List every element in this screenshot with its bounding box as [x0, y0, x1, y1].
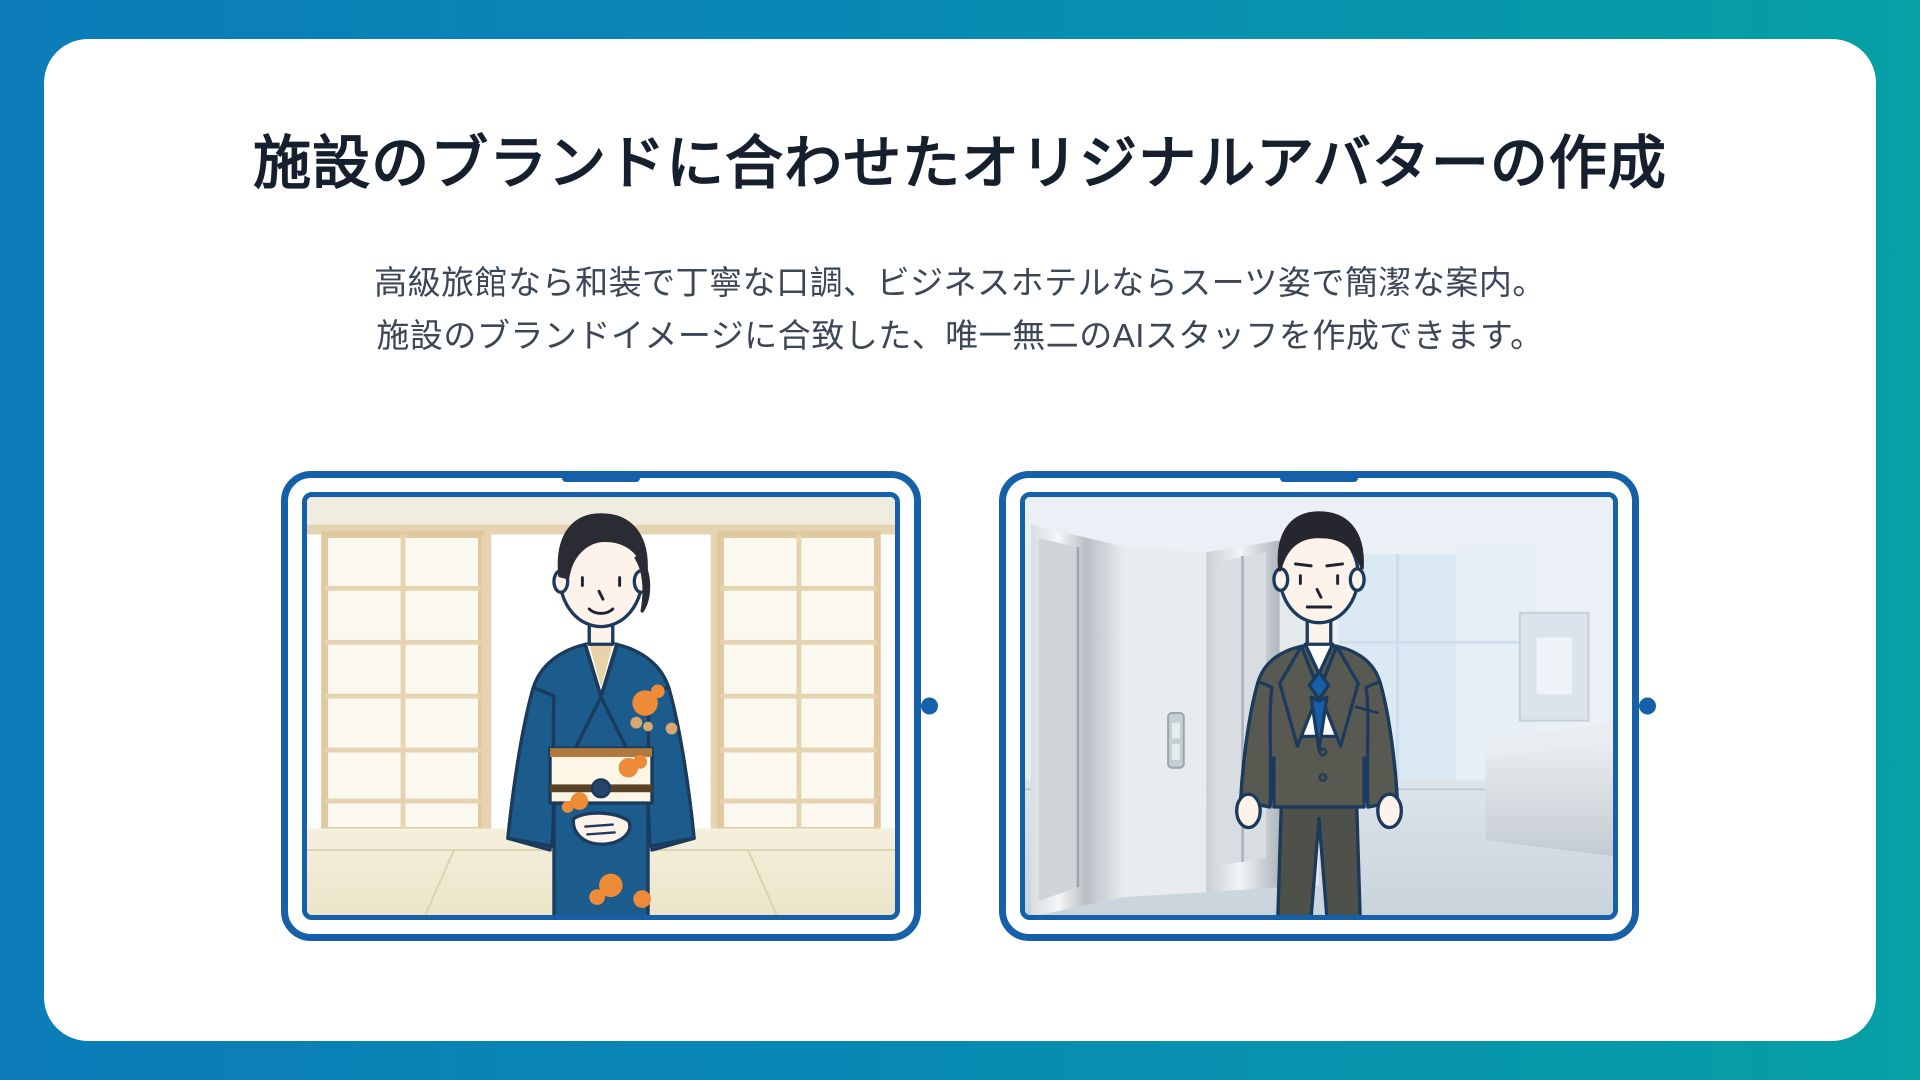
- ryokan-scene-illustration: [307, 497, 895, 915]
- tablet-home-button[interactable]: [921, 698, 938, 715]
- tablet-ryokan[interactable]: [281, 471, 921, 941]
- tablet-business-hotel[interactable]: [999, 471, 1639, 941]
- subtitle-line-2: 施設のブランドイメージに合致した、唯一無二のAIスタッフを作成できます。: [44, 309, 1876, 362]
- page-title: 施設のブランドに合わせたオリジナルアバターの作成: [44, 131, 1876, 198]
- tablet-camera-notch: [562, 475, 640, 482]
- tablet-home-button[interactable]: [1639, 698, 1656, 715]
- subtitle-line-1: 高級旅館なら和装で丁寧な口調、ビジネスホテルならスーツ姿で簡潔な案内。: [44, 256, 1876, 309]
- slide-card: 施設のブランドに合わせたオリジナルアバターの作成 高級旅館なら和装で丁寧な口調、…: [44, 39, 1876, 1041]
- tablet-ryokan-screen: [302, 492, 900, 920]
- business-hotel-scene-illustration: [1025, 497, 1613, 915]
- tablet-row: [44, 471, 1876, 941]
- shoji-right: [721, 535, 878, 831]
- page-subtitle: 高級旅館なら和装で丁寧な口調、ビジネスホテルならスーツ姿で簡潔な案内。 施設のブ…: [44, 256, 1876, 363]
- shoji-left: [325, 535, 482, 831]
- tablet-camera-notch: [1280, 475, 1358, 482]
- tablet-business-screen: [1020, 492, 1618, 920]
